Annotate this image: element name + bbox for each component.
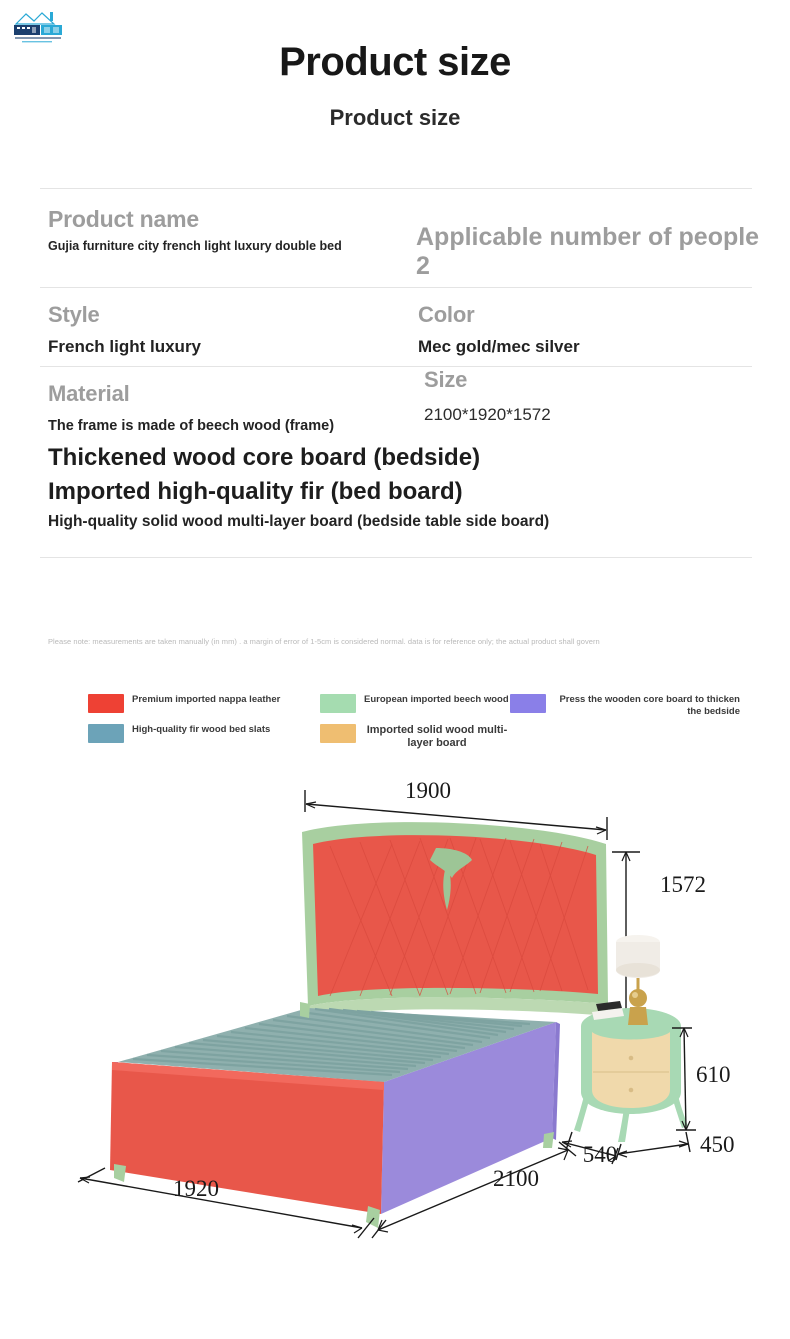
legend-item: Press the wooden core board to thicken t… [510,694,740,718]
spec-value-style: French light luxury [48,336,416,358]
bed-foot-right [543,1132,554,1148]
lamp-shade-bottom [616,963,660,977]
bed-dimension-diagram: 1900 1572 [0,770,790,1250]
legend-swatch-fir-bed-slats [88,724,124,743]
spec-label-product-name: Product name [48,205,416,233]
nightstand-handle-top [629,1056,634,1061]
legend-label: European imported beech wood [364,694,509,706]
legend-swatch-multilayer-board [320,724,356,743]
spec-label-style: Style [48,302,416,328]
material-line-1: The frame is made of beech wood (frame) [48,417,416,435]
spec-label-size: Size [424,367,754,393]
bed-foot-back [300,1002,310,1018]
legend-swatch-nappa-leather [88,694,124,713]
legend-label: Imported solid wood multi-layer board [364,724,510,750]
spec-table: Product name Gujia furniture city french… [40,188,752,558]
legend-item: High-quality fir wood bed slats [88,724,320,750]
dimension-label-540: 540 [583,1142,618,1167]
spec-label-color: Color [418,302,752,328]
dimension-label-610: 610 [696,1062,731,1087]
spec-value-size: 2100*1920*1572 [424,405,754,425]
legend-swatch-wooden-core-board [510,694,546,713]
spec-value-product-name: Gujia furniture city french light luxury… [48,239,358,254]
legend-swatch-beech-wood [320,694,356,713]
lamp-ball [629,989,647,1007]
legend-label: High-quality fir wood bed slats [132,724,270,736]
divider [40,557,752,558]
legend-label: Press the wooden core board to thicken t… [554,694,740,718]
measurement-note: Please note: measurements are taken manu… [48,636,748,647]
lamp-stem [637,978,640,990]
material-line-4: High-quality solid wood multi-layer boar… [48,511,416,533]
legend-item: European imported beech wood [320,694,510,718]
lamp-ball-highlight [632,992,638,998]
dimension-label-450: 450 [700,1132,735,1157]
nightstand-handle-bottom [629,1088,634,1093]
dimension-label-1900: 1900 [405,778,451,803]
nightstand-drawers [592,1032,670,1108]
dimension-nightstand-depth [616,1132,690,1160]
material-line-2: Thickened wood core board (bedside) [48,441,416,475]
dimension-label-2100: 2100 [493,1166,539,1191]
spec-value-color: Mec gold/mec silver [418,336,752,358]
page-title: Product size [0,40,790,85]
legend-item: Premium imported nappa leather [88,694,320,718]
spec-row-product-name: Product name Gujia furniture city french… [40,189,752,287]
page-subtitle: Product size [0,105,790,131]
dimension-label-1920: 1920 [173,1176,219,1201]
legend-label: Premium imported nappa leather [132,694,280,706]
material-line-3: Imported high-quality fir (bed board) [48,475,416,509]
spec-row-material-size: Material The frame is made of beech wood… [40,367,752,543]
spec-value-applicable-people: Applicable number of people 2 [416,205,766,281]
material-legend: Premium imported nappa leather European … [88,694,748,756]
spec-row-style-color: Style French light luxury Color Mec gold… [40,288,752,366]
bed-foot-left [114,1164,126,1182]
dimension-label-1572: 1572 [660,872,706,897]
lamp-base [628,1007,648,1025]
legend-item: Imported solid wood multi-layer board [320,724,510,750]
product-size-infographic: Product size Product size Product name G… [0,0,790,1339]
spec-label-material: Material [48,381,416,407]
